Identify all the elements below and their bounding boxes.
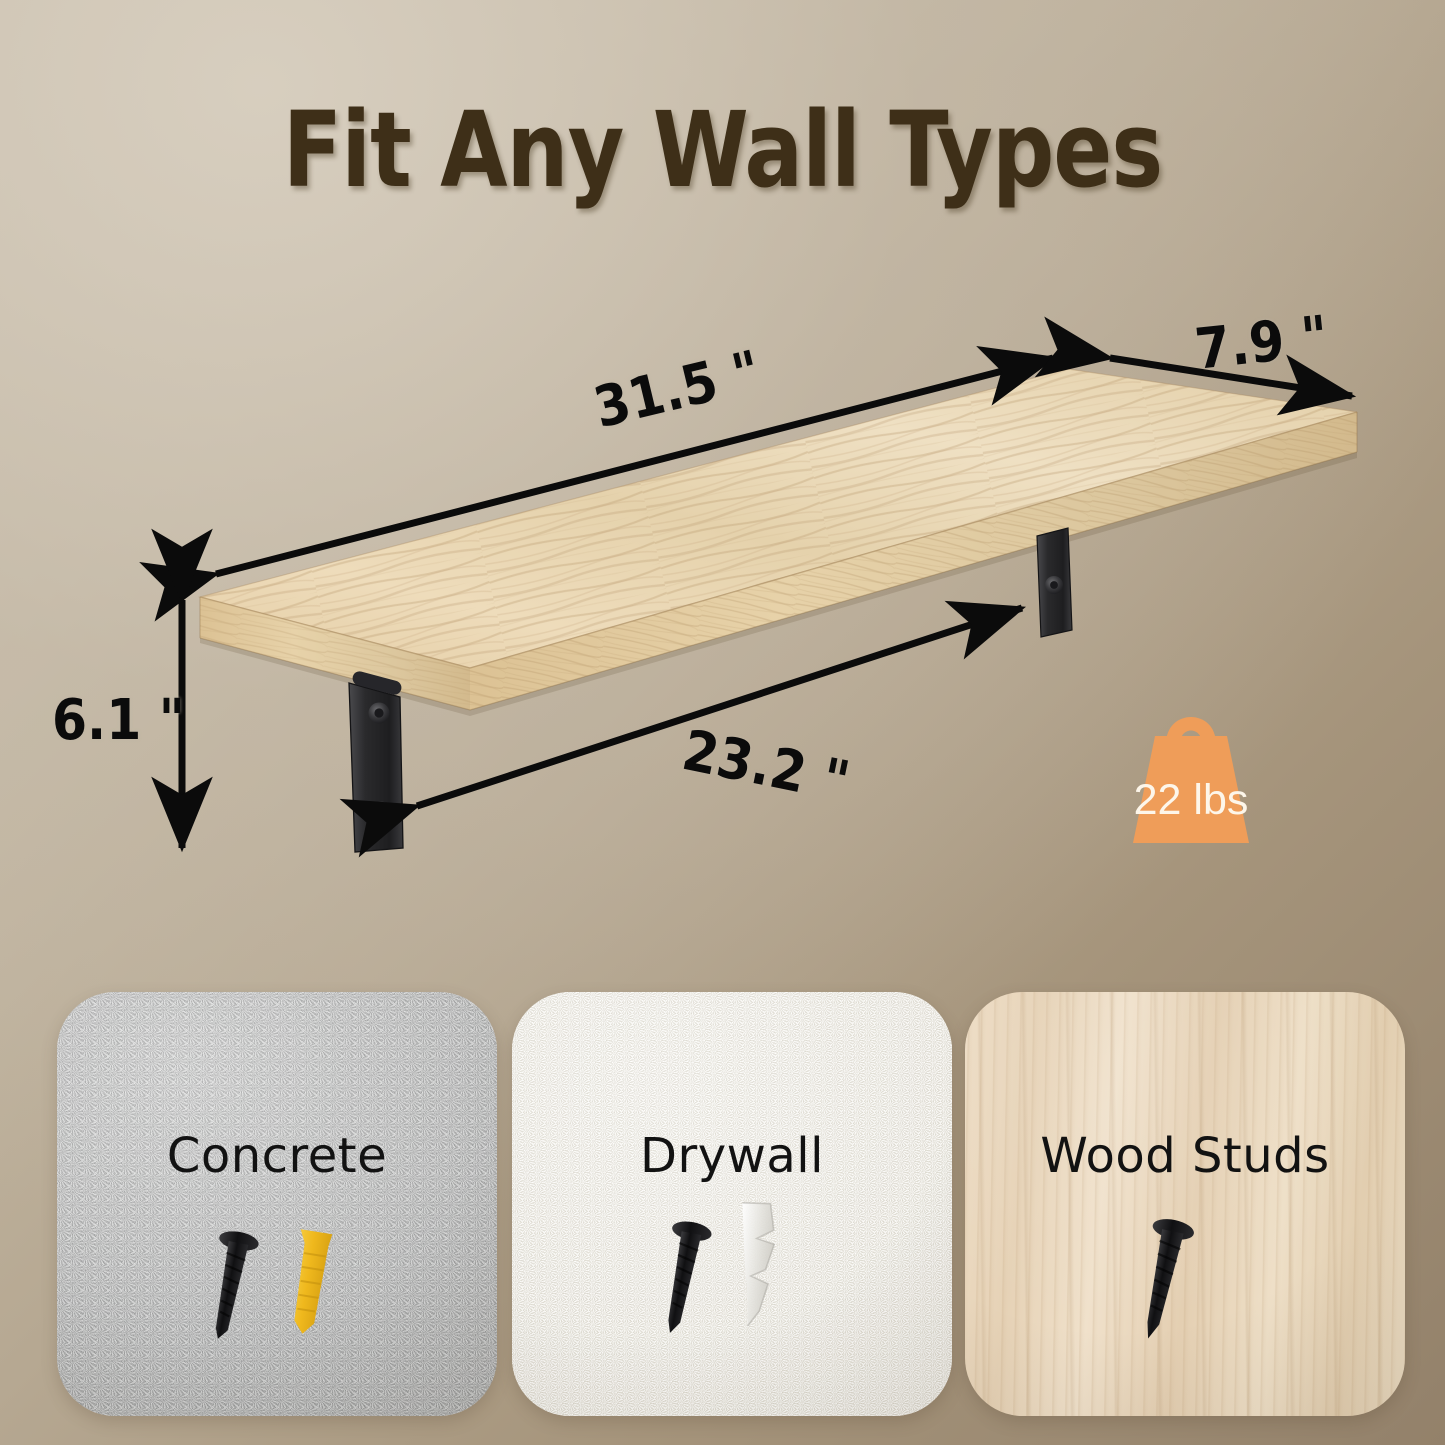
dimension-label-height: 6.1 " [52,688,185,753]
wall-type-card-drywall[interactable]: Drywall [512,992,952,1416]
infographic-canvas: Fit Any Wall Types [0,0,1445,1445]
dimension-label-depth: 7.9 " [1192,304,1331,383]
weight-capacity-badge: 22 lbs [1096,672,1286,862]
yellow-wall-anchor [285,1229,333,1336]
weight-icon [1096,672,1286,862]
wall-type-card-wood-studs[interactable]: Wood Studs [965,992,1405,1416]
hardware-drywall [512,992,952,1416]
black-screw [652,1218,713,1337]
white-drywall-anchor [730,1201,779,1328]
shelf-bracket-right [1037,528,1072,637]
black-screw [1129,1216,1195,1344]
hardware-wood-studs [965,992,1405,1416]
shelf-bracket-left [349,670,403,852]
black-screw [200,1228,260,1343]
weight-capacity-value: 22 lbs [1096,776,1286,825]
shelf-board [200,369,1357,716]
wall-type-card-concrete[interactable]: Concrete [57,992,497,1416]
hardware-concrete [57,992,497,1416]
